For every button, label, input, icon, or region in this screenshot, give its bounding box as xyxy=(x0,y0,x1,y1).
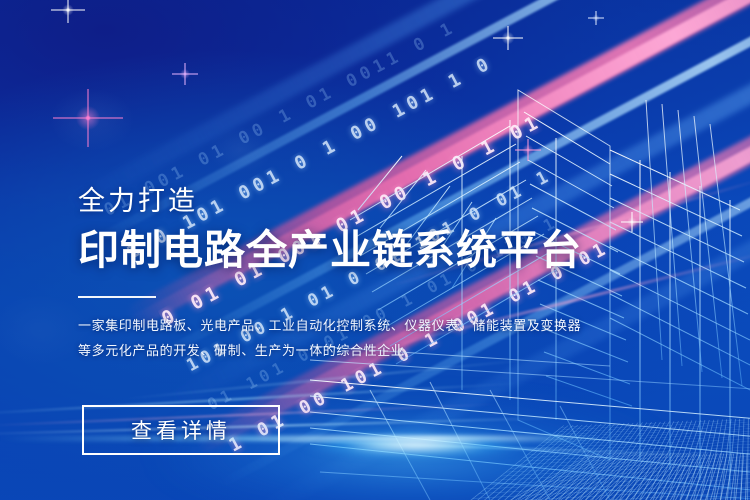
view-details-button[interactable]: 查看详情 xyxy=(82,405,280,455)
hero-banner: 01 001 01 00 1 01 0011 0 1 1 0 101 001 0… xyxy=(0,0,750,500)
center-glow-core xyxy=(300,432,530,458)
hero-description: 一家集印制电路板、光电产品、工业自动化控制系统、仪器仪表、储能装置及变换器 等多… xyxy=(78,313,598,363)
hero-headline: 印制电路全产业链系统平台 xyxy=(78,229,598,272)
hero-description-line-2: 等多元化产品的开发、研制、生产为一体的综合性企业 xyxy=(78,338,598,363)
hero-eyebrow: 全力打造 xyxy=(78,188,598,215)
hero-copy: 全力打造 印制电路全产业链系统平台 一家集印制电路板、光电产品、工业自动化控制系… xyxy=(78,188,598,363)
hero-description-line-1: 一家集印制电路板、光电产品、工业自动化控制系统、仪器仪表、储能装置及变换器 xyxy=(78,313,598,338)
hero-divider xyxy=(78,296,156,298)
